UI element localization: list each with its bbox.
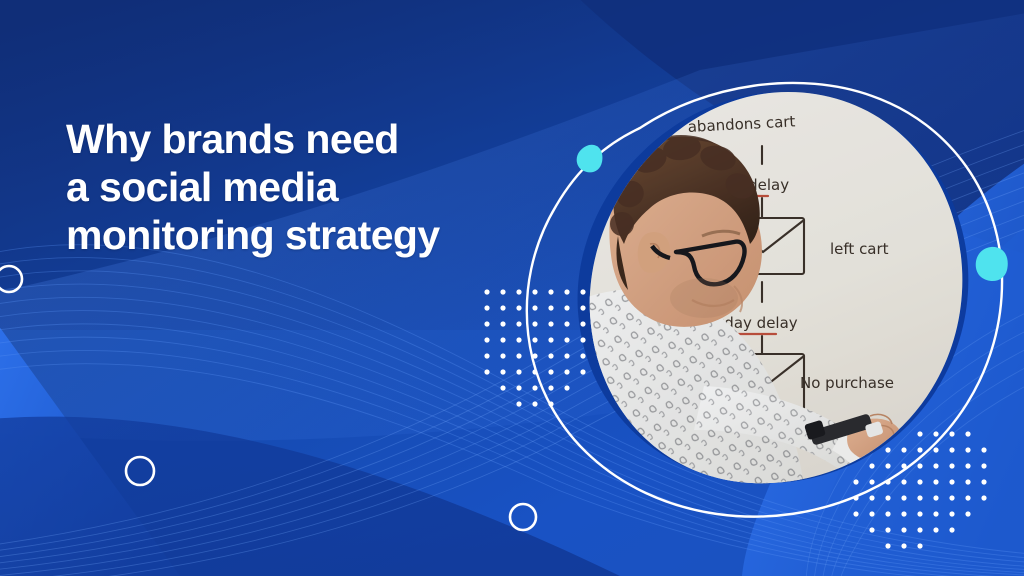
- headline-line-1: Why brands need: [66, 115, 586, 163]
- hero-photo: abandons cart 1 hr. delay left cart 1 da…: [584, 86, 984, 490]
- headline-line-3: monitoring strategy: [66, 211, 586, 259]
- blog-banner: abandons cart 1 hr. delay left cart 1 da…: [0, 0, 1024, 576]
- page-title: Why brands need a social media monitorin…: [66, 115, 586, 259]
- headline-line-2: a social media: [66, 163, 586, 211]
- hero-photo-illustration: abandons cart 1 hr. delay left cart 1 da…: [584, 86, 984, 490]
